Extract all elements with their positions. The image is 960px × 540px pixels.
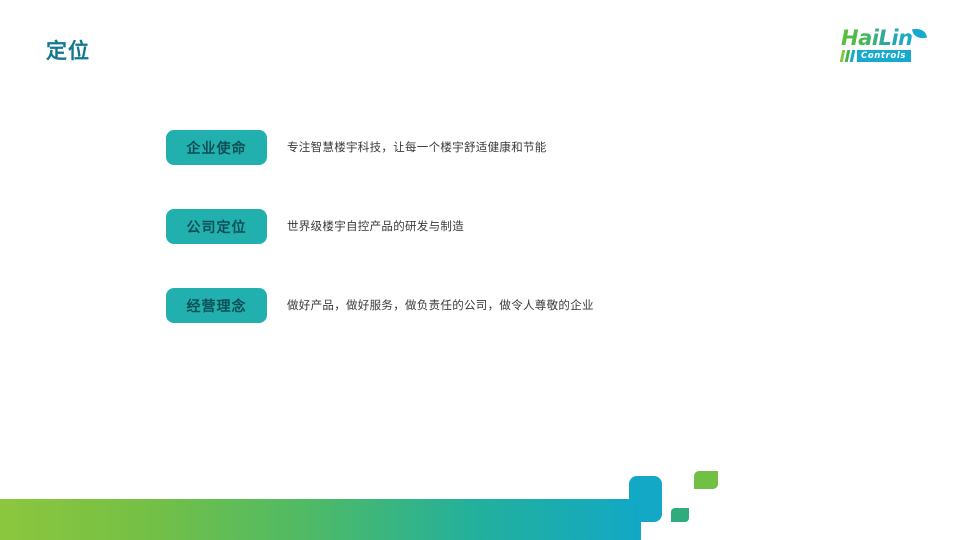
list-item: 公司定位 世界级楼宇自控产品的研发与制造 (166, 209, 866, 244)
gradient-bar (0, 499, 641, 540)
logo-subtitle: Controls (857, 50, 911, 62)
decor-notch-right (641, 499, 662, 522)
leaf-icon (912, 27, 927, 40)
page-title: 定位 (46, 41, 90, 62)
logo-wordmark: HaiLin (841, 28, 912, 49)
decor-square-green-large (694, 471, 718, 489)
badge-positioning: 公司定位 (166, 209, 267, 244)
bottom-decoration (0, 460, 960, 540)
statement-text-positioning: 世界级楼宇自控产品的研发与制造 (287, 218, 464, 234)
badge-mission: 企业使命 (166, 130, 267, 165)
statement-list: 企业使命 专注智慧楼宇科技，让每一个楼宇舒适健康和节能 公司定位 世界级楼宇自控… (166, 130, 866, 323)
badge-philosophy: 经营理念 (166, 288, 267, 323)
logo-bars-icon (840, 50, 856, 62)
logo-subtitle-group: Controls (841, 50, 911, 62)
statement-text-mission: 专注智慧楼宇科技，让每一个楼宇舒适健康和节能 (287, 139, 547, 155)
slide-canvas: 定位 HaiLin Controls 企业使命 专注智慧楼宇科技，让每一个楼宇舒… (0, 0, 960, 540)
list-item: 经营理念 做好产品，做好服务，做负责任的公司，做令人尊敬的企业 (166, 288, 866, 323)
hailin-logo: HaiLin Controls (837, 28, 933, 68)
statement-text-philosophy: 做好产品，做好服务，做负责任的公司，做令人尊敬的企业 (287, 297, 594, 313)
decor-square-green-small (671, 508, 689, 522)
decor-notch-top (629, 476, 662, 499)
list-item: 企业使命 专注智慧楼宇科技，让每一个楼宇舒适健康和节能 (166, 130, 866, 165)
